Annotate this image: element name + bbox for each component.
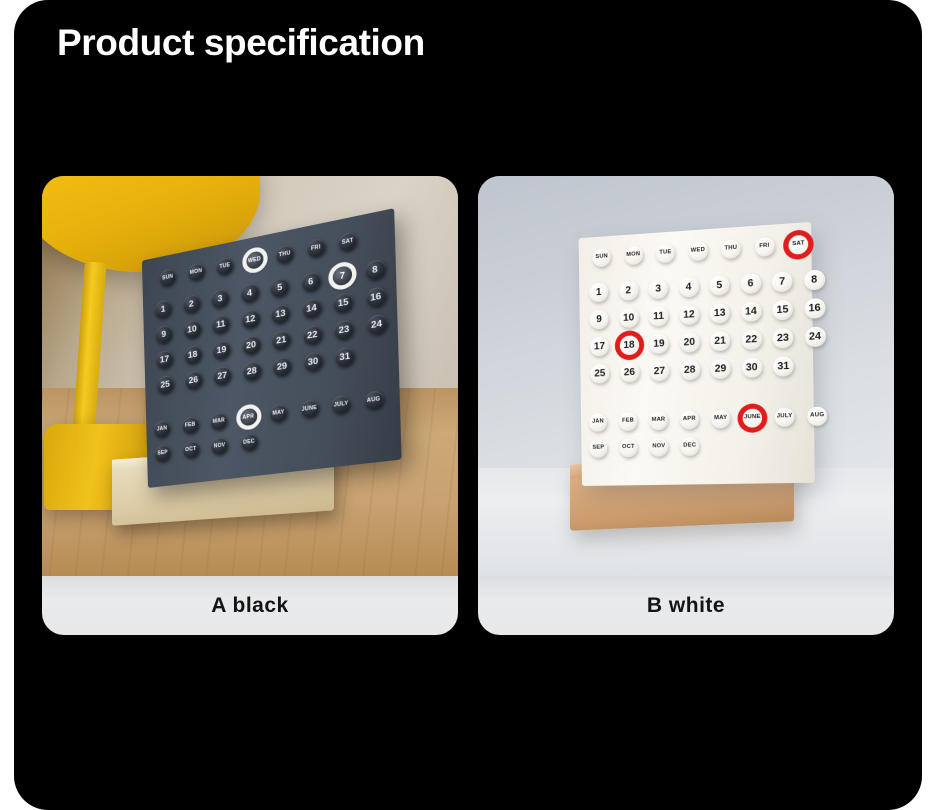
month-dot-mar[interactable]: MAR xyxy=(649,411,668,430)
day-dot-17[interactable]: 17 xyxy=(156,349,173,369)
day-dot-21[interactable]: 21 xyxy=(710,331,730,351)
weekday-dot-mon[interactable]: MON xyxy=(188,262,204,281)
day-dot-9[interactable]: 9 xyxy=(589,310,608,330)
day-dot-24[interactable]: 24 xyxy=(366,313,386,335)
day-dot-16[interactable]: 16 xyxy=(804,298,825,319)
month-dot-mar[interactable]: MAR xyxy=(210,412,227,431)
caption-black-label: A black xyxy=(211,594,288,618)
day-dot-23[interactable]: 23 xyxy=(334,319,354,341)
day-dot-18[interactable]: 18 xyxy=(184,345,201,365)
day-dot-5[interactable]: 5 xyxy=(270,277,289,298)
day-dot-20[interactable]: 20 xyxy=(242,335,260,356)
scene-white: SUNMONTUEWEDTHUFRISAT1234567891011121314… xyxy=(478,176,894,576)
day-row: 25262728293031 xyxy=(590,356,793,383)
day-dot-4[interactable]: 4 xyxy=(679,277,699,298)
month-row: JANFEBMARAPRMAYJUNEJULYAUG xyxy=(154,390,383,438)
day-dot-28[interactable]: 28 xyxy=(680,360,700,380)
weekday-dot-fri[interactable]: FRI xyxy=(307,238,325,259)
caption-white-label: B white xyxy=(647,594,725,618)
day-dot-3[interactable]: 3 xyxy=(211,288,229,309)
day-dot-12[interactable]: 12 xyxy=(679,305,699,325)
day-dot-8[interactable]: 8 xyxy=(365,259,385,281)
month-dot-oct[interactable]: OCT xyxy=(183,440,199,458)
day-dot-26[interactable]: 26 xyxy=(185,370,202,390)
day-dot-7[interactable]: 7 xyxy=(333,265,353,287)
day-dot-3[interactable]: 3 xyxy=(648,279,668,299)
month-dot-apr[interactable]: APR xyxy=(240,408,257,427)
day-dot-31[interactable]: 31 xyxy=(335,346,355,367)
day-dot-14[interactable]: 14 xyxy=(741,301,762,322)
day-dot-4[interactable]: 4 xyxy=(240,283,258,304)
day-dot-10[interactable]: 10 xyxy=(619,308,638,328)
day-dot-7[interactable]: 7 xyxy=(772,271,793,292)
day-dot-25[interactable]: 25 xyxy=(590,364,609,384)
day-dot-11[interactable]: 11 xyxy=(649,306,669,326)
caption-black: A black xyxy=(42,576,458,635)
day-dot-29[interactable]: 29 xyxy=(710,359,730,379)
scene-black: SUNMONTUEWEDTHUFRISAT1234567891011121314… xyxy=(42,176,458,576)
weekday-dot-tue[interactable]: TUE xyxy=(656,244,675,264)
month-dot-july[interactable]: JULY xyxy=(775,408,795,427)
weekday-dot-wed[interactable]: WED xyxy=(246,250,263,270)
day-dot-17[interactable]: 17 xyxy=(590,337,609,357)
day-dot-27[interactable]: 27 xyxy=(649,361,669,381)
weekday-dot-fri[interactable]: FRI xyxy=(755,237,775,257)
calendar-board-white: SUNMONTUEWEDTHUFRISAT1234567891011121314… xyxy=(579,222,815,486)
day-dot-15[interactable]: 15 xyxy=(333,292,353,314)
day-dot-19[interactable]: 19 xyxy=(649,334,669,354)
day-dot-30[interactable]: 30 xyxy=(303,351,322,372)
day-dot-5[interactable]: 5 xyxy=(709,275,729,296)
product-photo-black: SUNMONTUEWEDTHUFRISAT1234567891011121314… xyxy=(42,176,458,576)
month-dot-june[interactable]: JUNE xyxy=(743,409,762,428)
month-dot-nov[interactable]: NOV xyxy=(650,438,669,457)
day-dot-24[interactable]: 24 xyxy=(804,326,825,347)
day-dot-11[interactable]: 11 xyxy=(212,314,230,335)
weekday-dot-tue[interactable]: TUE xyxy=(216,256,233,276)
caption-white: B white xyxy=(478,576,894,635)
weekday-dot-thu[interactable]: THU xyxy=(721,239,740,259)
month-dot-aug[interactable]: AUG xyxy=(807,407,827,427)
day-dot-1[interactable]: 1 xyxy=(155,299,172,319)
month-dot-dec[interactable]: DEC xyxy=(680,437,699,456)
month-dot-feb[interactable]: FEB xyxy=(182,416,198,434)
month-dot-may[interactable]: MAY xyxy=(711,409,730,428)
day-dot-21[interactable]: 21 xyxy=(272,330,291,351)
month-dot-dec[interactable]: DEC xyxy=(240,433,257,452)
product-photo-white: SUNMONTUEWEDTHUFRISAT1234567891011121314… xyxy=(478,176,894,576)
day-dot-22[interactable]: 22 xyxy=(741,329,762,350)
weekday-dot-mon[interactable]: MON xyxy=(624,246,642,265)
day-dot-31[interactable]: 31 xyxy=(773,356,794,377)
day-dot-9[interactable]: 9 xyxy=(155,324,172,344)
day-dot-22[interactable]: 22 xyxy=(303,324,322,345)
month-dot-sep[interactable]: SEP xyxy=(155,444,171,462)
weekday-dot-sun[interactable]: SUN xyxy=(160,268,176,287)
month-dot-sep[interactable]: SEP xyxy=(589,439,607,457)
month-dot-aug[interactable]: AUG xyxy=(364,390,383,410)
day-row: 12345678 xyxy=(589,269,825,302)
calendar-grid-white: SUNMONTUEWEDTHUFRISAT1234567891011121314… xyxy=(579,222,815,486)
product-card-white[interactable]: SUNMONTUEWEDTHUFRISAT1234567891011121314… xyxy=(478,176,894,635)
month-dot-feb[interactable]: FEB xyxy=(619,412,637,431)
weekday-dot-sat[interactable]: SAT xyxy=(788,235,808,255)
month-row: JANFEBMARAPRMAYJUNEJULYAUG xyxy=(589,407,827,432)
month-row: SEPOCTNOVDEC xyxy=(589,437,699,458)
page-title: Product specification xyxy=(57,22,425,64)
product-card-black[interactable]: SUNMONTUEWEDTHUFRISAT1234567891011121314… xyxy=(42,176,458,635)
day-row: 910111213141516 xyxy=(589,298,825,330)
day-dot-26[interactable]: 26 xyxy=(620,363,639,383)
month-dot-oct[interactable]: OCT xyxy=(619,439,637,458)
day-dot-19[interactable]: 19 xyxy=(213,340,231,360)
day-dot-14[interactable]: 14 xyxy=(302,298,321,319)
month-dot-nov[interactable]: NOV xyxy=(211,437,228,456)
product-specification-page: Product specification SUNMONTUEWEDTHUFRI… xyxy=(0,0,940,810)
day-dot-13[interactable]: 13 xyxy=(271,303,290,324)
month-dot-june[interactable]: JUNE xyxy=(300,399,318,418)
weekday-row: SUNMONTUEWEDTHUFRISAT xyxy=(593,235,809,268)
month-dot-may[interactable]: MAY xyxy=(270,403,288,422)
month-row: SEPOCTNOVDEC xyxy=(155,433,258,462)
day-dot-16[interactable]: 16 xyxy=(366,286,386,308)
day-dot-8[interactable]: 8 xyxy=(804,269,825,290)
month-dot-apr[interactable]: APR xyxy=(680,410,699,429)
month-dot-july[interactable]: JULY xyxy=(332,395,351,415)
weekday-dot-sun[interactable]: SUN xyxy=(593,248,611,267)
day-dot-23[interactable]: 23 xyxy=(773,328,794,349)
day-dot-6[interactable]: 6 xyxy=(301,271,320,293)
month-dot-jan[interactable]: JAN xyxy=(589,413,607,432)
day-dot-18[interactable]: 18 xyxy=(619,335,638,355)
day-dot-12[interactable]: 12 xyxy=(241,309,259,330)
day-dot-29[interactable]: 29 xyxy=(273,356,292,377)
month-dot-jan[interactable]: JAN xyxy=(154,420,170,438)
day-dot-1[interactable]: 1 xyxy=(589,282,608,302)
day-dot-6[interactable]: 6 xyxy=(740,273,761,294)
weekday-dot-thu[interactable]: THU xyxy=(276,244,294,264)
day-dot-15[interactable]: 15 xyxy=(772,300,793,321)
day-dot-13[interactable]: 13 xyxy=(710,303,730,324)
day-dot-20[interactable]: 20 xyxy=(679,332,699,352)
day-dot-30[interactable]: 30 xyxy=(741,358,762,379)
day-dot-27[interactable]: 27 xyxy=(213,366,231,386)
day-dot-2[interactable]: 2 xyxy=(183,294,200,314)
weekday-dot-sat[interactable]: SAT xyxy=(338,231,357,252)
day-dot-2[interactable]: 2 xyxy=(619,281,638,301)
day-dot-10[interactable]: 10 xyxy=(183,319,200,339)
weekday-dot-wed[interactable]: WED xyxy=(688,242,707,262)
day-row: 1718192021222324 xyxy=(590,326,826,356)
day-dot-28[interactable]: 28 xyxy=(243,361,261,381)
day-dot-25[interactable]: 25 xyxy=(157,375,174,395)
